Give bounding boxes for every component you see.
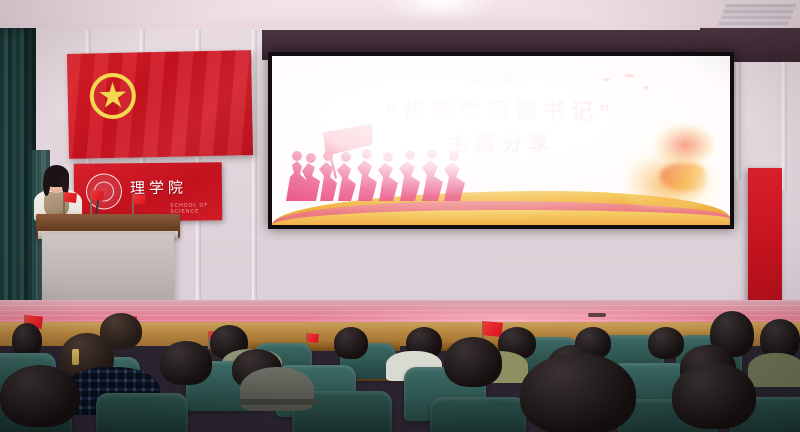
audience-head (520, 353, 636, 432)
speaker-hair-left (43, 174, 50, 196)
slide-gold-motif-detail (660, 163, 706, 191)
communist-youth-league-flag (67, 50, 253, 159)
audience-head (672, 363, 756, 429)
audience-chair (430, 397, 526, 432)
slide-part-label: 第六部分 (272, 70, 730, 87)
audience-chair (96, 393, 188, 432)
audience-area (0, 305, 800, 432)
led-screen-surface: 第六部分 “优秀党员读书记” 主题分享 (272, 56, 730, 225)
slide-subtitle: 主题分享 (272, 128, 730, 158)
slide-text-block: 第六部分 “优秀党员读书记” 主题分享 (272, 70, 730, 158)
audience-head (12, 323, 42, 357)
department-banner-subtext: SCHOOL OF SCIENCE (170, 202, 222, 215)
wall-seam (252, 30, 257, 300)
audience-head (444, 337, 502, 387)
audience-head (0, 365, 80, 427)
red-vertical-banner (748, 168, 782, 310)
led-screen[interactable]: 第六部分 “优秀党员读书记” 主题分享 (268, 52, 734, 229)
slide-spark (420, 158, 425, 161)
audience-head (648, 327, 684, 359)
water-bottle (72, 349, 79, 365)
audience-head (334, 327, 368, 359)
audience-shoulders (748, 353, 800, 387)
audience-head (160, 341, 212, 385)
audience-cap-brim (238, 399, 318, 405)
slide-title: “优秀党员读书记” (272, 98, 730, 126)
ceiling-light-glow (380, 0, 500, 22)
screenshot-root: 第六部分 “优秀党员读书记” 主题分享 理学院 SCHOOL OF SCIENC… (0, 0, 800, 432)
ceiling-vent (718, 4, 797, 26)
